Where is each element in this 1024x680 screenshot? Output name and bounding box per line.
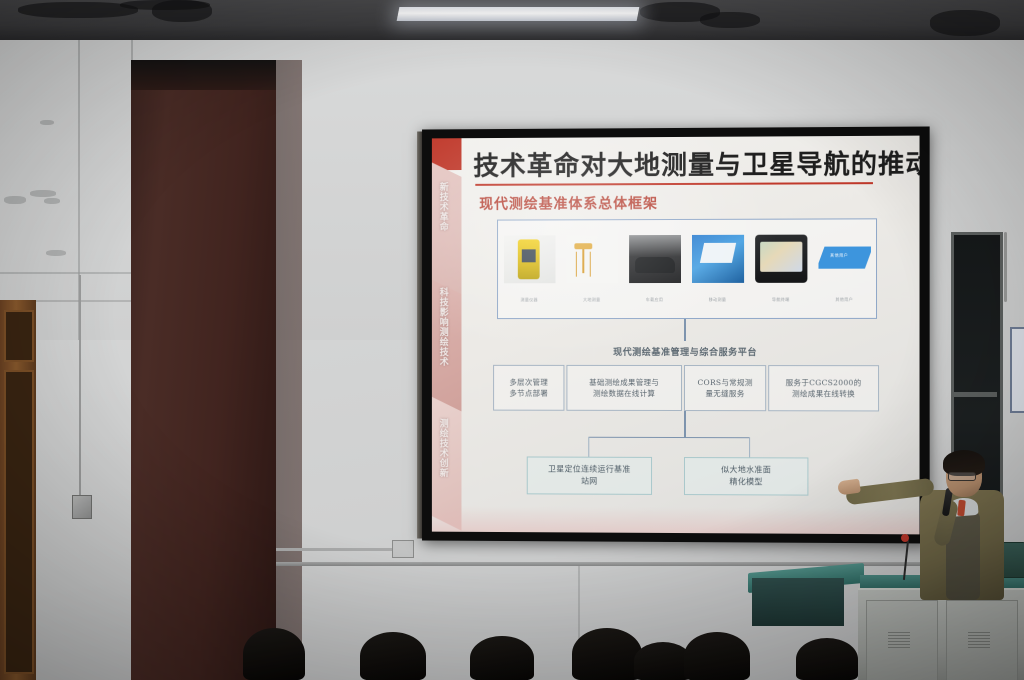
screen-bottom-tint	[432, 506, 920, 535]
foundation-box-line1: 似大地水准面	[721, 464, 771, 476]
foundation-box-line1: 卫星定位连续运行基准	[548, 464, 631, 476]
wall-scuff	[44, 198, 60, 204]
thumbnail-caption: 车载应用	[646, 297, 664, 303]
thumbnail-survey-vehicle	[629, 235, 681, 283]
connector-line	[749, 437, 750, 457]
thumbnail-row: 其他用户	[498, 225, 876, 292]
slide-title: 技术革命对大地测量与卫星导航的推动	[473, 144, 911, 183]
thumbnail-caption: 其他用户	[835, 297, 853, 303]
audience-head	[470, 636, 534, 680]
projected-slide: 新技术革命 科技影响测绘技术 测绘技术创新 技术革命对大地测量与卫星导航的推动 …	[432, 136, 920, 535]
service-box: 多层次管理 多节点部署	[493, 365, 564, 411]
ceiling-stain	[152, 0, 212, 22]
service-box-line1: CORS与常规测	[697, 377, 752, 388]
foundation-box-line2: 站网	[581, 476, 598, 488]
junction-box	[72, 495, 92, 519]
ceiling-stain	[930, 10, 1000, 36]
thumbnail-caption: 大地测量	[583, 297, 601, 303]
service-box-line1: 多层次管理	[509, 377, 548, 388]
wall-poster	[1010, 327, 1024, 413]
sidebar-band-label-1: 新技术革命	[438, 182, 451, 232]
audience-head	[684, 632, 750, 680]
electrical-conduit	[79, 275, 81, 500]
pillar-header	[131, 60, 276, 90]
audience-head	[360, 632, 426, 680]
slide-sidebar: 新技术革命 科技影响测绘技术 测绘技术创新	[432, 138, 462, 532]
service-box-row: 多层次管理 多节点部署 基础测绘成果管理与 测绘数据在线计算 CORS与常规测 …	[493, 365, 879, 412]
thumbnail-gnss-receiver	[503, 235, 555, 283]
glasses-icon	[948, 472, 976, 481]
foundation-box: 似大地水准面 精化模型	[684, 457, 808, 496]
wall-scuff	[46, 250, 66, 256]
wall-seam	[0, 272, 131, 274]
wall-scuff	[30, 190, 56, 197]
structural-pillar	[131, 60, 276, 680]
thumbnail-caption: 导航终端	[772, 297, 790, 303]
audience-head	[243, 628, 305, 680]
service-box: CORS与常规测 量无缝服务	[684, 365, 766, 411]
door-pane	[4, 370, 34, 674]
thumbnail-badge-label: 其他用户	[830, 253, 848, 259]
title-underline	[475, 182, 873, 186]
podium-vent	[968, 632, 990, 650]
wall-scuff	[40, 120, 54, 125]
sidebar-band-label-3: 测绘技术创新	[438, 418, 451, 478]
service-box: 服务于CGCS2000的 测绘成果在线转换	[768, 365, 879, 411]
thumbnail-other-users: 其他用户	[818, 234, 870, 282]
thumbnail-panel: 其他用户 测量仪器 大地测量 车载应用 移动测量 导航终端 其他用户	[497, 218, 877, 319]
slide-subtitle: 现代测绘基准体系总体框架	[479, 193, 658, 214]
foundation-box-line2: 精化模型	[729, 476, 762, 488]
service-box-line1: 服务于CGCS2000的	[786, 377, 862, 388]
ceiling-stain	[700, 12, 760, 28]
wall-scuff	[4, 196, 26, 204]
podium-vent	[888, 632, 910, 650]
audience-head	[796, 638, 858, 680]
connector-line	[588, 437, 589, 457]
service-box-line1: 基础测绘成果管理与	[589, 377, 659, 388]
lecture-hall-photo: 新技术革命 科技影响测绘技术 测绘技术创新 技术革命对大地测量与卫星导航的推动 …	[0, 0, 1024, 680]
ceiling-light-fixture	[397, 7, 640, 21]
service-box-line2: 多节点部署	[509, 388, 548, 399]
audience-head	[572, 628, 642, 680]
service-box: 基础测绘成果管理与 测绘数据在线计算	[566, 365, 682, 411]
connector-line	[684, 319, 686, 341]
wall-ledge	[276, 548, 396, 551]
door-pane	[4, 310, 34, 362]
sidebar-band-label-2: 科技影响测绘技术	[438, 287, 451, 366]
connector-line	[684, 411, 686, 437]
window-mullion	[951, 392, 997, 397]
thumbnail-caption: 测量仪器	[520, 297, 537, 303]
side-desk-body	[752, 578, 844, 626]
thumbnail-tripod-instrument	[566, 235, 618, 283]
wall-ledge	[276, 562, 1024, 566]
thumbnail-mobile-mapping	[691, 235, 743, 283]
platform-label: 现代测绘基准管理与综合服务平台	[497, 345, 875, 358]
service-box-line2: 测绘成果在线转换	[792, 388, 855, 399]
foundation-box: 卫星定位连续运行基准 站网	[527, 456, 652, 494]
thumbnail-caption: 移动测量	[709, 297, 727, 303]
connector-line	[588, 437, 750, 438]
wall-outlet[interactable]	[392, 540, 414, 558]
thumbnail-captions: 测量仪器 大地测量 车载应用 移动测量 导航终端 其他用户	[498, 294, 876, 306]
wall-pipe	[1004, 232, 1007, 302]
microphone-head-icon	[901, 534, 909, 542]
wooden-door[interactable]	[0, 300, 36, 680]
service-box-line2: 量无缝服务	[706, 388, 745, 399]
service-box-line2: 测绘数据在线计算	[593, 388, 655, 399]
thumbnail-navigation-device	[755, 235, 807, 283]
pillar-shadow	[276, 60, 302, 660]
